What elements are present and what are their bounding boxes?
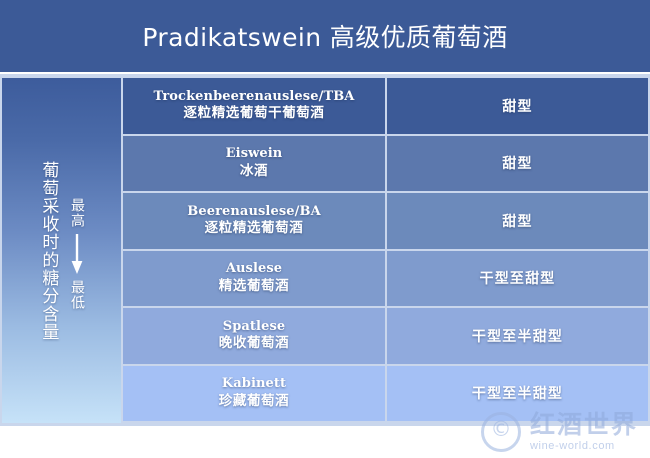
wine-name-de: Eiswein [226, 146, 283, 162]
wine-style-label: 甜型 [502, 153, 532, 173]
wine-name-de: Kabinett [222, 376, 286, 392]
cell-wine-style: 甜型 [387, 136, 648, 192]
cell-wine-name: Auslese精选葡萄酒 [123, 251, 385, 307]
cell-wine-name: Spatlese晚收葡萄酒 [123, 308, 385, 364]
wine-name-de: Spatlese [223, 319, 286, 335]
table-row: Trockenbeerenauslese/TBA逐粒精选葡萄干葡萄酒甜型 [123, 78, 648, 134]
table-row: Kabinett珍藏葡萄酒干型至半甜型 [123, 366, 648, 422]
sidebar-label: 葡萄采收时的糖分含量 [39, 161, 57, 341]
sugar-level-sidebar: 葡萄采收时的糖分含量 最高 最低 [2, 78, 121, 423]
table-row: Eiswein冰酒甜型 [123, 136, 648, 192]
wine-name-zh: 晚收葡萄酒 [219, 335, 290, 353]
title-bar: Pradikatswein 高级优质葡萄酒 [0, 0, 650, 72]
wine-name-de: Trockenbeerenauslese/TBA [154, 89, 355, 105]
wine-name-zh: 冰酒 [240, 163, 268, 181]
wine-style-label: 干型至半甜型 [472, 383, 563, 403]
wine-name-zh: 珍藏葡萄酒 [219, 393, 290, 411]
table-row: Beerenauslese/BA逐粒精选葡萄酒甜型 [123, 193, 648, 249]
slide-canvas: Pradikatswein 高级优质葡萄酒 葡萄采收时的糖分含量 最高 最低 T… [0, 0, 650, 458]
wine-name-zh: 逐粒精选葡萄干葡萄酒 [184, 105, 325, 123]
arrow-down-icon [70, 233, 84, 275]
table-row: Spatlese晚收葡萄酒干型至半甜型 [123, 308, 648, 364]
cell-wine-style: 干型至半甜型 [387, 366, 648, 422]
scale-low-label: 最低 [69, 280, 84, 310]
cell-wine-name: Trockenbeerenauslese/TBA逐粒精选葡萄干葡萄酒 [123, 78, 385, 134]
sugar-scale-indicator: 最高 最低 [69, 198, 84, 310]
wine-style-label: 甜型 [502, 96, 532, 116]
wine-name-zh: 逐粒精选葡萄酒 [205, 220, 304, 238]
scale-high-label: 最高 [69, 198, 84, 228]
pradikatswein-table: 葡萄采收时的糖分含量 最高 最低 Trockenbeerenauslese/TB… [0, 74, 650, 426]
wine-name-zh: 精选葡萄酒 [219, 278, 290, 296]
table-row: Auslese精选葡萄酒干型至甜型 [123, 251, 648, 307]
cell-wine-style: 甜型 [387, 78, 648, 134]
cell-wine-style: 干型至半甜型 [387, 308, 648, 364]
cell-wine-name: Eiswein冰酒 [123, 136, 385, 192]
wine-style-label: 干型至半甜型 [472, 326, 563, 346]
page-title: Pradikatswein 高级优质葡萄酒 [142, 18, 507, 54]
cell-wine-style: 甜型 [387, 193, 648, 249]
sidebar-inner: 葡萄采收时的糖分含量 最高 最低 [2, 78, 121, 423]
cell-wine-name: Kabinett珍藏葡萄酒 [123, 366, 385, 422]
watermark-site-en: wine-world.com [530, 440, 615, 452]
cell-wine-style: 干型至甜型 [387, 251, 648, 307]
wine-style-label: 干型至甜型 [480, 268, 556, 288]
table-rows: Trockenbeerenauslese/TBA逐粒精选葡萄干葡萄酒甜型Eisw… [123, 78, 648, 423]
wine-name-de: Beerenauslese/BA [187, 204, 321, 220]
wine-name-de: Auslese [226, 261, 282, 277]
wine-style-label: 甜型 [502, 211, 532, 231]
cell-wine-name: Beerenauslese/BA逐粒精选葡萄酒 [123, 193, 385, 249]
